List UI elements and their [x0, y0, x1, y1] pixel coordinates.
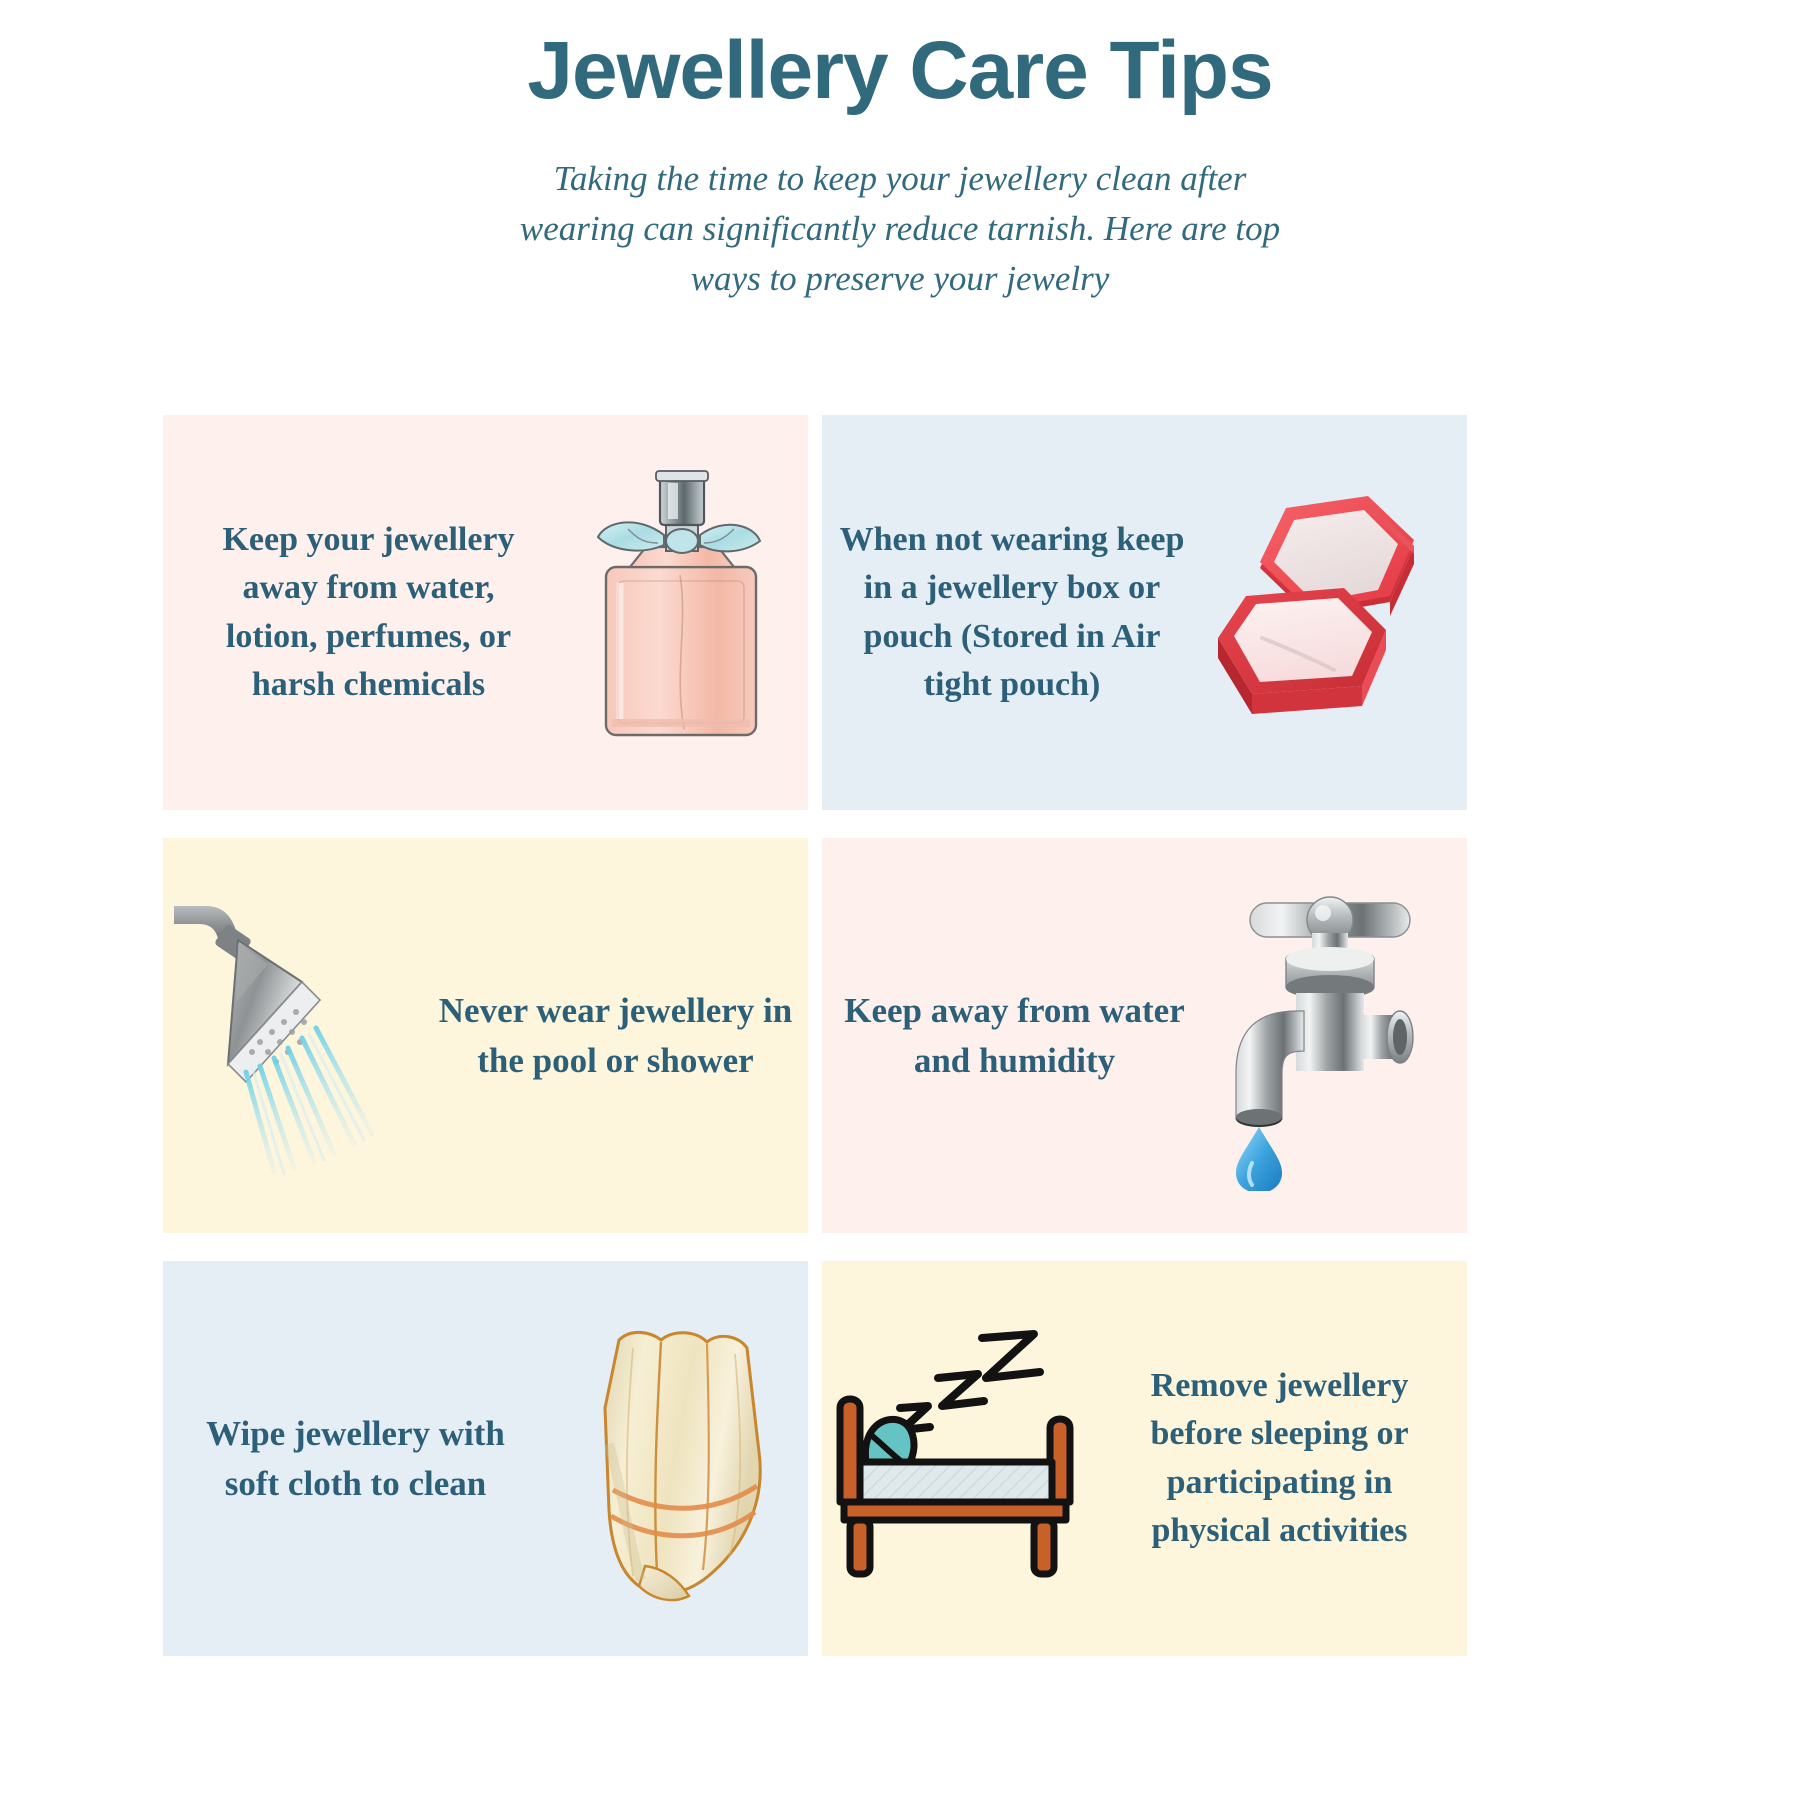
tip-card-5-label: Wipe jewellery with soft cloth to clean [163, 1409, 548, 1508]
bed-sleeping-icon [822, 1324, 1092, 1594]
tip-card-1[interactable]: Keep your jewellery away from water, lot… [163, 415, 808, 810]
header: Jewellery Care Tips Taking the time to k… [0, 0, 1800, 303]
tip-card-1-label: Keep your jewellery away from water, lot… [163, 516, 558, 709]
tip-card-4[interactable]: Keep away from water and humidity [822, 838, 1467, 1233]
tip-card-3[interactable]: Never wear jewellery in the pool or show… [163, 838, 808, 1233]
infographic-page: Jewellery Care Tips Taking the time to k… [0, 0, 1800, 1800]
ring-box-icon [1202, 473, 1467, 753]
cloth-icon [548, 1309, 808, 1609]
tip-card-3-label: Never wear jewellery in the pool or show… [423, 986, 808, 1085]
faucet-icon [1207, 886, 1467, 1186]
page-subtitle: Taking the time to keep your jewellery c… [505, 154, 1295, 303]
tip-card-4-label: Keep away from water and humidity [822, 986, 1207, 1085]
tip-card-5[interactable]: Wipe jewellery with soft cloth to clean [163, 1261, 808, 1656]
tip-card-6-label: Remove jewellery before sleeping or part… [1092, 1362, 1467, 1555]
page-title: Jewellery Care Tips [0, 24, 1800, 118]
tip-card-2-label: When not wearing keep in a jewellery box… [822, 516, 1202, 709]
shower-head-icon [163, 891, 423, 1181]
tip-card-6[interactable]: Remove jewellery before sleeping or part… [822, 1261, 1467, 1656]
perfume-bottle-icon [558, 463, 808, 763]
tip-card-2[interactable]: When not wearing keep in a jewellery box… [822, 415, 1467, 810]
tips-grid: Keep your jewellery away from water, lot… [163, 415, 1637, 1656]
